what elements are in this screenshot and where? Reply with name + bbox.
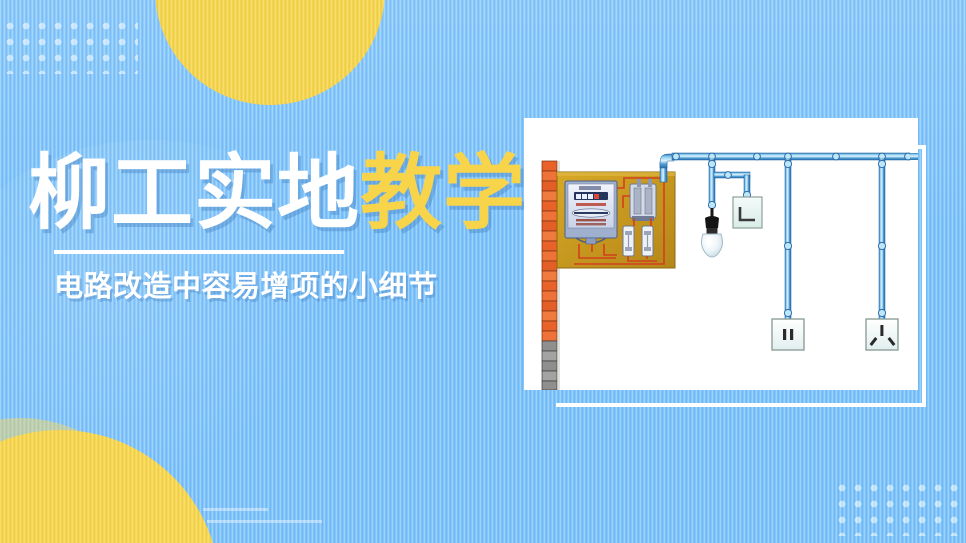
decorative-line-1 [203,508,268,511]
title-segment-white: 柳工实地 [28,148,360,239]
socket-3pin-branch [866,159,898,350]
page-title: 柳工实地教学 [28,152,528,236]
title-block: 柳工实地教学 电路改造中容易增项的小细节 [28,152,528,305]
fuse-1-icon [623,226,634,256]
photo-panel [524,118,918,390]
fuse-2-icon [642,226,653,256]
distribution-panel [557,172,675,268]
poster-root: 柳工实地教学 电路改造中容易增项的小细节 [0,0,966,543]
conduit-right-stub [910,153,918,160]
decorative-line-2 [207,520,322,523]
title-divider [54,250,344,254]
page-subtitle: 电路改造中容易增项的小细节 [54,263,528,305]
title-segment-yellow: 教学 [360,148,526,239]
circuit-diagram [524,118,918,390]
electric-meter-icon [565,181,617,244]
knife-switch-icon [630,178,656,221]
socket-2pin-branch [772,159,804,350]
wall-switch-branch [714,172,762,228]
